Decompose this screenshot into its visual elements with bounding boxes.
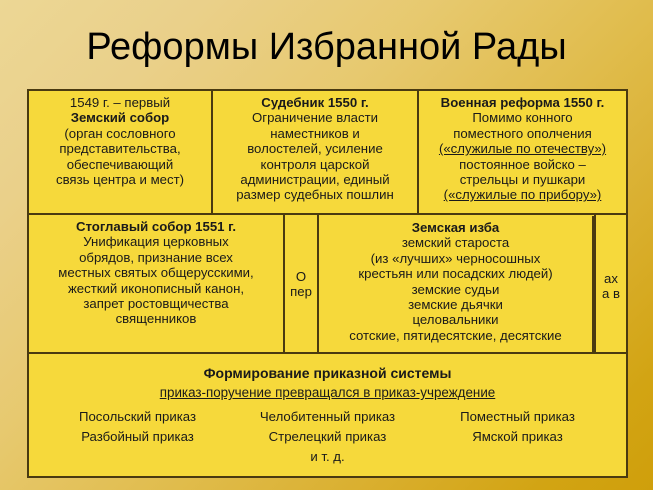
prikaz-column: Поместный приказ Ямской приказ xyxy=(423,407,613,467)
cell-title: Военная реформа 1550 г. xyxy=(423,95,622,110)
cell-line: местных святых общерусскими, xyxy=(33,265,279,280)
cell-line: священников xyxy=(33,311,279,326)
cell-line: ах xyxy=(600,271,622,286)
slide-canvas: Реформы Избранной Рады 1549 г. – первый … xyxy=(0,0,653,490)
cell-line: стрельцы и пушкари xyxy=(423,172,622,187)
cell-line: обрядов, признание всех xyxy=(33,250,279,265)
cell-line: обеспечивающий xyxy=(33,157,207,172)
cell-line: наместников и xyxy=(217,126,413,141)
overlay-line: (из «лучших» черносошных xyxy=(319,251,592,266)
overlay-line: целовальники xyxy=(319,312,592,327)
cell-line: О xyxy=(289,269,313,284)
reforms-table: 1549 г. – первый Земский собор (орган со… xyxy=(27,89,628,478)
table-row: 1549 г. – первый Земский собор (орган со… xyxy=(29,91,626,215)
overlay-line: сотские, пятидесятские, десятские xyxy=(319,328,592,343)
cell-line: а в xyxy=(600,286,622,301)
cell-line: поместного ополчения xyxy=(423,126,622,141)
cell-line: пер xyxy=(289,284,313,299)
list-item: Ямской приказ xyxy=(423,427,613,447)
cell-line-underlined: («служилые по прибору») xyxy=(423,187,622,202)
table-row: Формирование приказной системы приказ-по… xyxy=(29,354,626,476)
cell-line: запрет ростовщичества xyxy=(33,296,279,311)
cell-title: Судебник 1550 г. xyxy=(217,95,413,110)
prikaz-column: Посольский приказ Разбойный приказ xyxy=(43,407,233,467)
cell-sudebnik-1550: Судебник 1550 г. Ограничение власти наме… xyxy=(211,91,417,213)
overlay-line: крестьян или посадских людей) xyxy=(319,266,592,281)
overlay-zemskaya-izba: Земская изба земский староста (из «лучши… xyxy=(317,216,594,352)
prikaz-column: Челобитенный приказ Стрелецкий приказ и … xyxy=(233,407,423,467)
cell-line-underlined: («служилые по отечеству») xyxy=(423,141,622,156)
cell-line: Ограничение власти xyxy=(217,110,413,125)
list-item: и т. д. xyxy=(233,447,423,467)
list-item: Челобитенный приказ xyxy=(233,407,423,427)
cell-line: волостелей, усиление xyxy=(217,141,413,156)
cell-stoglavy-sobor-1551: Стоглавый собор 1551 г. Унификация церко… xyxy=(29,215,283,352)
list-item: Стрелецкий приказ xyxy=(233,427,423,447)
page-title: Реформы Избранной Рады xyxy=(0,24,653,70)
cell-prikaz-system: Формирование приказной системы приказ-по… xyxy=(29,354,626,476)
list-item: Разбойный приказ xyxy=(43,427,233,447)
overlay-line: земские судьи xyxy=(319,282,592,297)
cell-line: Унификация церковных xyxy=(33,234,279,249)
cell-title: Земский собор xyxy=(33,110,207,125)
cell-line: Помимо конного xyxy=(423,110,622,125)
cell-line: администрации, единый xyxy=(217,172,413,187)
list-item: Поместный приказ xyxy=(423,407,613,427)
cell-line: постоянное войско – xyxy=(423,157,622,172)
cell-line: связь центра и мест) xyxy=(33,172,207,187)
cell-military-reform-1550: Военная реформа 1550 г. Помимо конного п… xyxy=(417,91,626,213)
list-item: Посольский приказ xyxy=(43,407,233,427)
prikaz-columns: Посольский приказ Разбойный приказ Челоб… xyxy=(33,407,622,467)
cell-line: размер судебных пошлин xyxy=(217,187,413,202)
overlay-line: земский староста xyxy=(319,235,592,250)
cell-obscured-left-fragment: О пер xyxy=(283,215,317,352)
prikaz-heading: Формирование приказной системы xyxy=(33,364,622,383)
cell-line: (орган сословного xyxy=(33,126,207,141)
cell-line: контроля царской xyxy=(217,157,413,172)
cell-line: жесткий иконописный канон, xyxy=(33,281,279,296)
cell-title: Стоглавый собор 1551 г. xyxy=(33,219,279,234)
cell-line: представительства, xyxy=(33,141,207,156)
cell-obscured-right-fragment: ах а в xyxy=(594,215,626,352)
cell-zemsky-sobor: 1549 г. – первый Земский собор (орган со… xyxy=(29,91,211,213)
overlay-title: Земская изба xyxy=(319,220,592,235)
prikaz-subheading: приказ-поручение превращался в приказ-уч… xyxy=(33,383,622,402)
overlay-line: земские дьячки xyxy=(319,297,592,312)
cell-line: 1549 г. – первый xyxy=(33,95,207,110)
